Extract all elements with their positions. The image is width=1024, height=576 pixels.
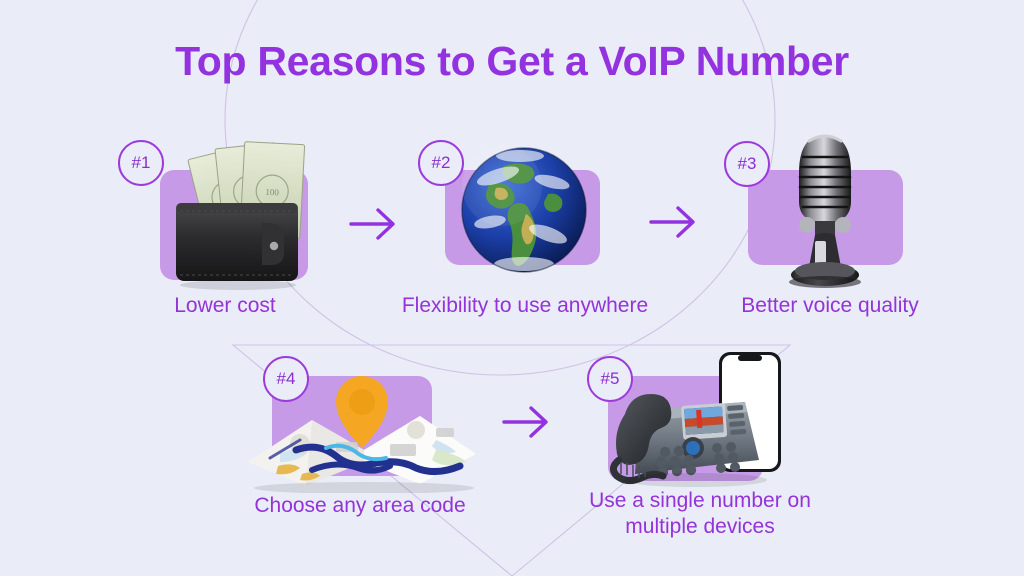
infographic-canvas: Top Reasons to Get a VoIP Number [0, 0, 1024, 576]
item-3-badge-label: #3 [738, 154, 757, 174]
arrow-2-to-3 [645, 198, 705, 246]
item-5-caption: Use a single number on multiple devices [535, 488, 865, 540]
page-title: Top Reasons to Get a VoIP Number [0, 38, 1024, 85]
reason-item-4: #4 Choose any area code [240, 348, 490, 548]
svg-text:100: 100 [265, 187, 280, 198]
item-3-caption: Better voice quality [670, 293, 990, 319]
item-2-caption: Flexibility to use anywhere [365, 293, 685, 319]
earth-globe-americas-icon [452, 138, 597, 283]
item-2-badge: #2 [418, 140, 464, 186]
item-4-badge-label: #4 [277, 369, 296, 389]
reason-item-3: #3 Better voice quality [710, 125, 940, 330]
reason-item-2: #2 Flexibility to use anywhere [410, 130, 640, 330]
item-4-caption: Choose any area code [195, 493, 525, 519]
item-1-caption: Lower cost [65, 293, 385, 319]
arrow-1-to-2 [345, 200, 405, 248]
item-5-badge-label: #5 [601, 369, 620, 389]
item-4-badge: #4 [263, 356, 309, 402]
arrow-4-to-5 [498, 398, 558, 446]
item-3-badge: #3 [724, 141, 770, 187]
reason-item-1: 100 #1 Lower cost [110, 130, 340, 330]
reason-item-5: #5 Use a single number on multiple devic… [575, 348, 825, 568]
wallet-with-cash-icon: 100 [150, 135, 330, 305]
item-1-badge: #1 [118, 140, 164, 186]
item-2-badge-label: #2 [432, 153, 451, 173]
retro-microphone-icon [765, 125, 885, 295]
item-1-badge-label: #1 [132, 153, 151, 173]
item-5-badge: #5 [587, 356, 633, 402]
